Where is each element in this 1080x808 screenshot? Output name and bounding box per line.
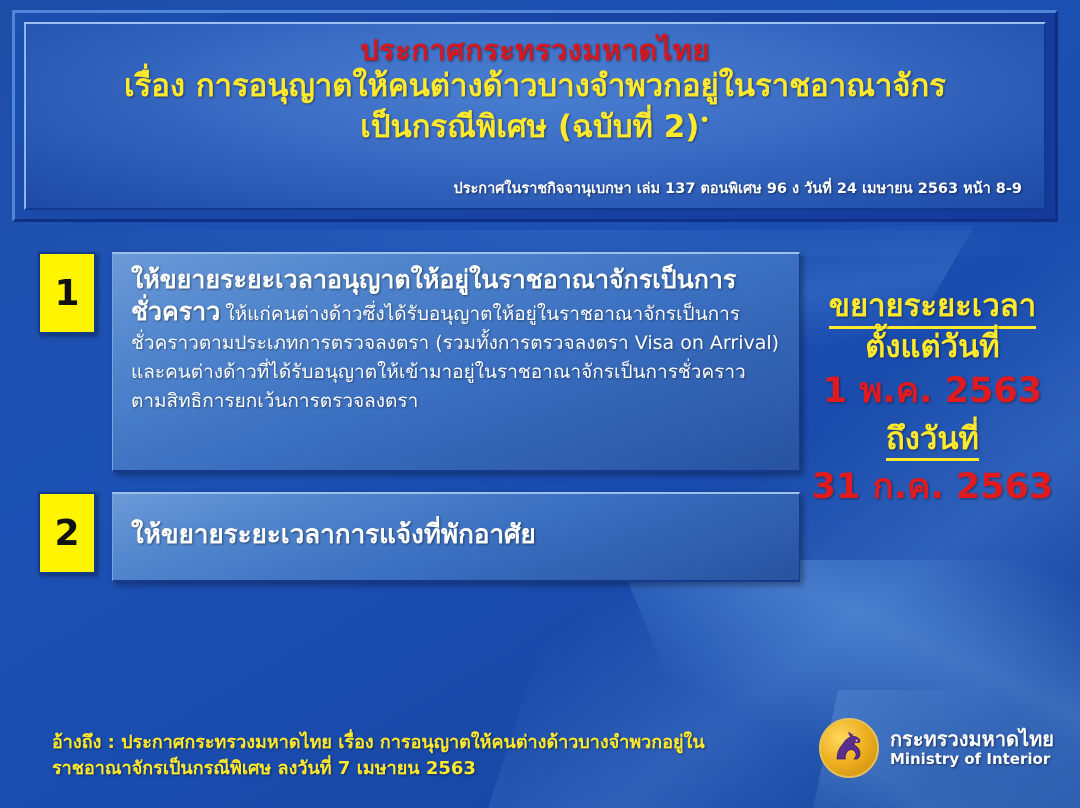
- ministry-brand-text: กระทรวงมหาดไทย Ministry of Interior: [890, 728, 1054, 769]
- reference-note-line-1: อ้างถึง : ประกาศกระทรวงมหาดไทย เรื่อง กา…: [52, 730, 752, 756]
- list-item: 1 ให้ขยายระยะเวลาอนุญาตให้อยู่ในราชอาณาจ…: [38, 252, 800, 472]
- item-content-panel: ให้ขยายระยะเวลาการแจ้งที่พักอาศัย: [112, 492, 800, 582]
- period-to-label: ถึงวันที่: [790, 421, 1075, 462]
- period-heading-text: ขยายระยะเวลา: [829, 288, 1036, 329]
- item-1-body-text: ให้แก่คนต่างด้าวซึ่งได้รับอนุญาตให้อยู่ใ…: [131, 303, 779, 412]
- item-number-badge: 2: [38, 492, 96, 574]
- infographic-poster: ประกาศกระทรวงมหาดไทย เรื่อง การอนุญาตให้…: [0, 0, 1080, 808]
- ministry-name-en: Ministry of Interior: [890, 751, 1054, 768]
- validity-period-block: ขยายระยะเวลา ตั้งแต่วันที่ 1 พ.ค. 2563 ถ…: [790, 288, 1075, 517]
- item-2-strong-text: ให้ขยายระยะเวลาการแจ้งที่พักอาศัย: [131, 519, 536, 552]
- list-item: 2 ให้ขยายระยะเวลาการแจ้งที่พักอาศัย: [38, 492, 800, 582]
- reference-note-line-2: ราชอาณาจักรเป็นกรณีพิเศษ ลงวันที่ 7 เมษา…: [52, 756, 752, 782]
- ministry-name-th: กระทรวงมหาดไทย: [890, 728, 1054, 751]
- header-banner: ประกาศกระทรวงมหาดไทย เรื่อง การอนุญาตให้…: [12, 10, 1058, 222]
- reference-note: อ้างถึง : ประกาศกระทรวงมหาดไทย เรื่อง กา…: [52, 730, 752, 782]
- rajasi-horse-glyph: [827, 726, 871, 770]
- announcement-subject-line-1: เรื่อง การอนุญาตให้คนต่างด้าวบางจำพวกอยู…: [26, 66, 1044, 106]
- footnote-mark: •: [699, 110, 709, 129]
- announcement-subject-line-2: เป็นกรณีพิเศษ (ฉบับที่ 2)•: [26, 107, 1044, 147]
- header-banner-inner: ประกาศกระทรวงมหาดไทย เรื่อง การอนุญาตให้…: [24, 22, 1046, 210]
- item-1-text: ให้ขยายระยะเวลาอนุญาตให้อยู่ในราชอาณาจัก…: [131, 264, 781, 416]
- item-content-panel: ให้ขยายระยะเวลาอนุญาตให้อยู่ในราชอาณาจัก…: [112, 252, 800, 472]
- period-to-date: 31 ก.ค. 2563: [790, 465, 1075, 511]
- period-from-date: 1 พ.ค. 2563: [790, 369, 1075, 415]
- period-from-label: ตั้งแต่วันที่: [790, 329, 1075, 366]
- period-to-label-text: ถึงวันที่: [886, 421, 979, 462]
- ministry-emblem-icon: [819, 718, 879, 778]
- ministry-brand: กระทรวงมหาดไทย Ministry of Interior: [819, 718, 1054, 778]
- announcement-title: ประกาศกระทรวงมหาดไทย: [26, 34, 1044, 66]
- announcement-subject-line-2-text: เป็นกรณีพิเศษ (ฉบับที่ 2): [360, 109, 699, 145]
- item-number-badge: 1: [38, 252, 96, 334]
- gazette-citation: ประกาศในราชกิจจานุเบกษา เล่ม 137 ตอนพิเศ…: [454, 177, 1022, 200]
- period-heading: ขยายระยะเวลา: [790, 288, 1075, 329]
